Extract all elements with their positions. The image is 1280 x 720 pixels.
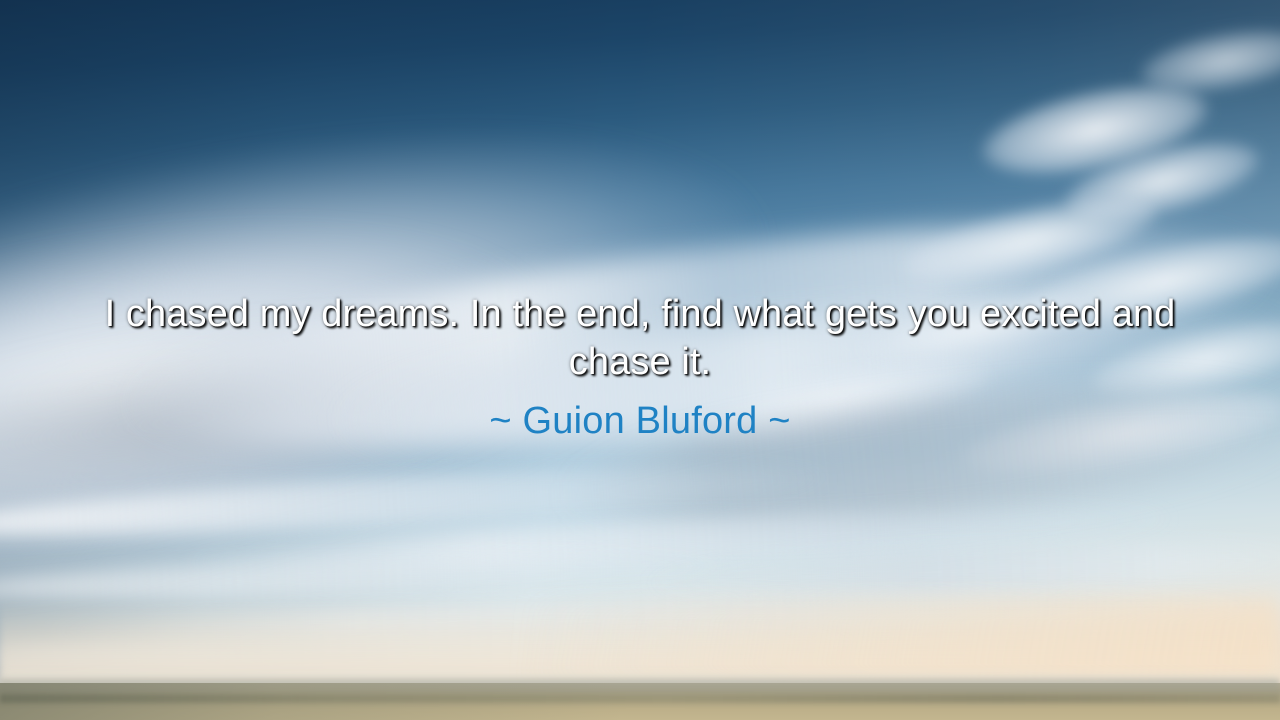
quote-author: ~ Guion Bluford ~ bbox=[489, 398, 790, 444]
quote-text: I chased my dreams. In the end, find wha… bbox=[70, 290, 1210, 386]
quote-overlay: I chased my dreams. In the end, find wha… bbox=[0, 0, 1280, 720]
quote-image-canvas: I chased my dreams. In the end, find wha… bbox=[0, 0, 1280, 720]
